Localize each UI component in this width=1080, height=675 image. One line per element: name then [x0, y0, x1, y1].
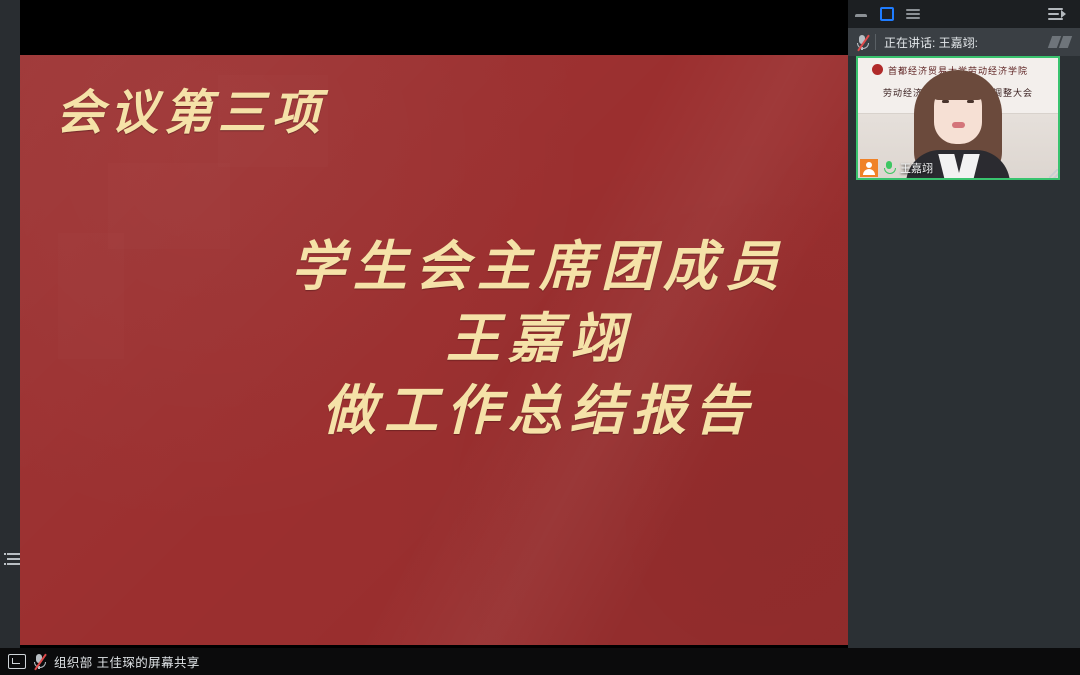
share-status-bar: 组织部 王佳琛的屏幕共享: [0, 648, 1080, 675]
mic-muted-icon[interactable]: [856, 34, 869, 51]
mic-muted-icon[interactable]: [33, 653, 46, 670]
meeting-screen-share-window: 会议第三项 学生会主席团成员 王嘉翊 做工作总结报告 首都经济贸易大学 Capi…: [0, 0, 1080, 675]
active-speaker-bar: 正在讲话: 王嘉翊:: [848, 28, 1080, 56]
slide-title: 会议第三项: [56, 73, 326, 143]
screen-share-icon: [8, 654, 26, 669]
participant-video-tile[interactable]: 首都经济贸易大学劳动经济学院 劳动经济学院学生会换届调整大会: [856, 56, 1060, 180]
resize-handle-icon[interactable]: [1049, 169, 1058, 178]
minimize-icon[interactable]: [854, 7, 868, 21]
participant-name: 王嘉翊: [900, 160, 933, 176]
share-status-label: 组织部 王佳琛的屏幕共享: [54, 652, 200, 671]
user-avatar-icon: [860, 159, 878, 177]
mic-on-icon[interactable]: [883, 160, 895, 176]
active-speaker-label: 正在讲话: 王嘉翊:: [884, 34, 978, 51]
collapse-panel-icon[interactable]: [1048, 7, 1066, 21]
divider: [875, 34, 876, 50]
window-controls: [854, 0, 920, 28]
left-gutter: [0, 0, 20, 648]
window-titlebar: [848, 0, 1080, 28]
hamburger-menu-icon[interactable]: [906, 7, 920, 21]
video-feed: 首都经济贸易大学劳动经济学院 劳动经济学院学生会换届调整大会: [858, 58, 1058, 178]
audio-waveform-icon: [1050, 36, 1070, 48]
right-panel: 正在讲话: 王嘉翊: 首都经济贸易大学劳动经济学院 劳动经济学院学生会换届调整大…: [848, 0, 1080, 648]
video-tile-footer: 王嘉翊: [858, 158, 1058, 178]
restore-window-icon[interactable]: [880, 7, 894, 21]
